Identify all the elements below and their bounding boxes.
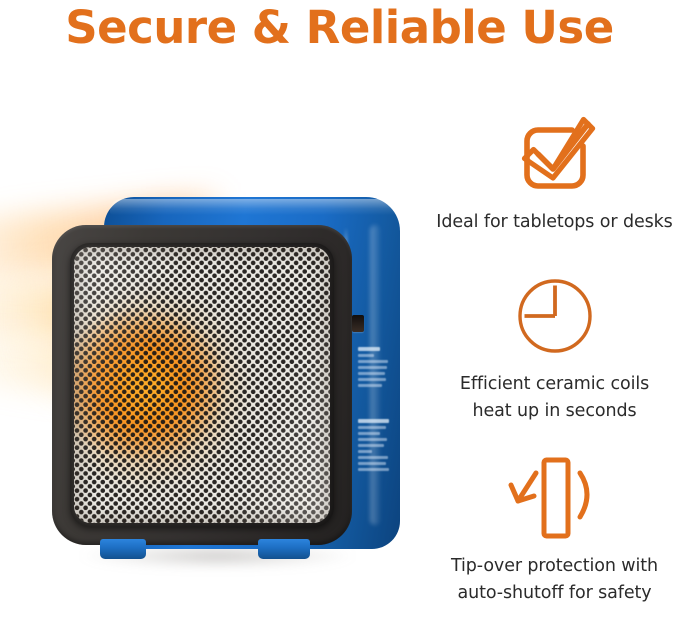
feature-icon-slot [430,270,679,362]
caption-line: heat up in seconds [430,398,679,425]
feature-item: Ideal for tabletops or desks [430,108,679,236]
feature-caption: Ideal for tabletops or desks [430,209,679,236]
product-photo [0,70,430,638]
space-heater-unit [52,197,400,557]
checkbox-check-icon [509,108,601,200]
grille-vignette [74,247,330,523]
heater-side-slot [352,315,364,332]
feature-list: Ideal for tabletops or desks Efficient c… [430,70,679,638]
heater-foot [258,539,310,559]
caption-line: Tip-over protection with [430,553,679,580]
caption-line: Ideal for tabletops or desks [430,209,679,236]
caption-line: Efficient ceramic coils [430,371,679,398]
feature-item: Tip-over protection with auto-shutoff fo… [430,452,679,607]
clock-icon [509,270,601,362]
side-panel-warning-text [358,347,388,390]
feature-icon-slot [430,452,679,544]
page-title: Secure & Reliable Use [0,2,679,54]
body-top-highlight [110,199,396,215]
feature-caption: Efficient ceramic coils heat up in secon… [430,371,679,425]
feature-item: Efficient ceramic coils heat up in secon… [430,270,679,425]
product-feature-image: Secure & Reliable Use [0,0,679,638]
heater-grille [74,247,330,523]
tip-over-shutoff-icon [505,452,605,544]
feature-icon-slot [430,108,679,200]
side-panel-warning-text [358,419,389,474]
caption-line: auto-shutoff for safety [430,580,679,607]
feature-caption: Tip-over protection with auto-shutoff fo… [430,553,679,607]
heater-foot [100,539,146,559]
